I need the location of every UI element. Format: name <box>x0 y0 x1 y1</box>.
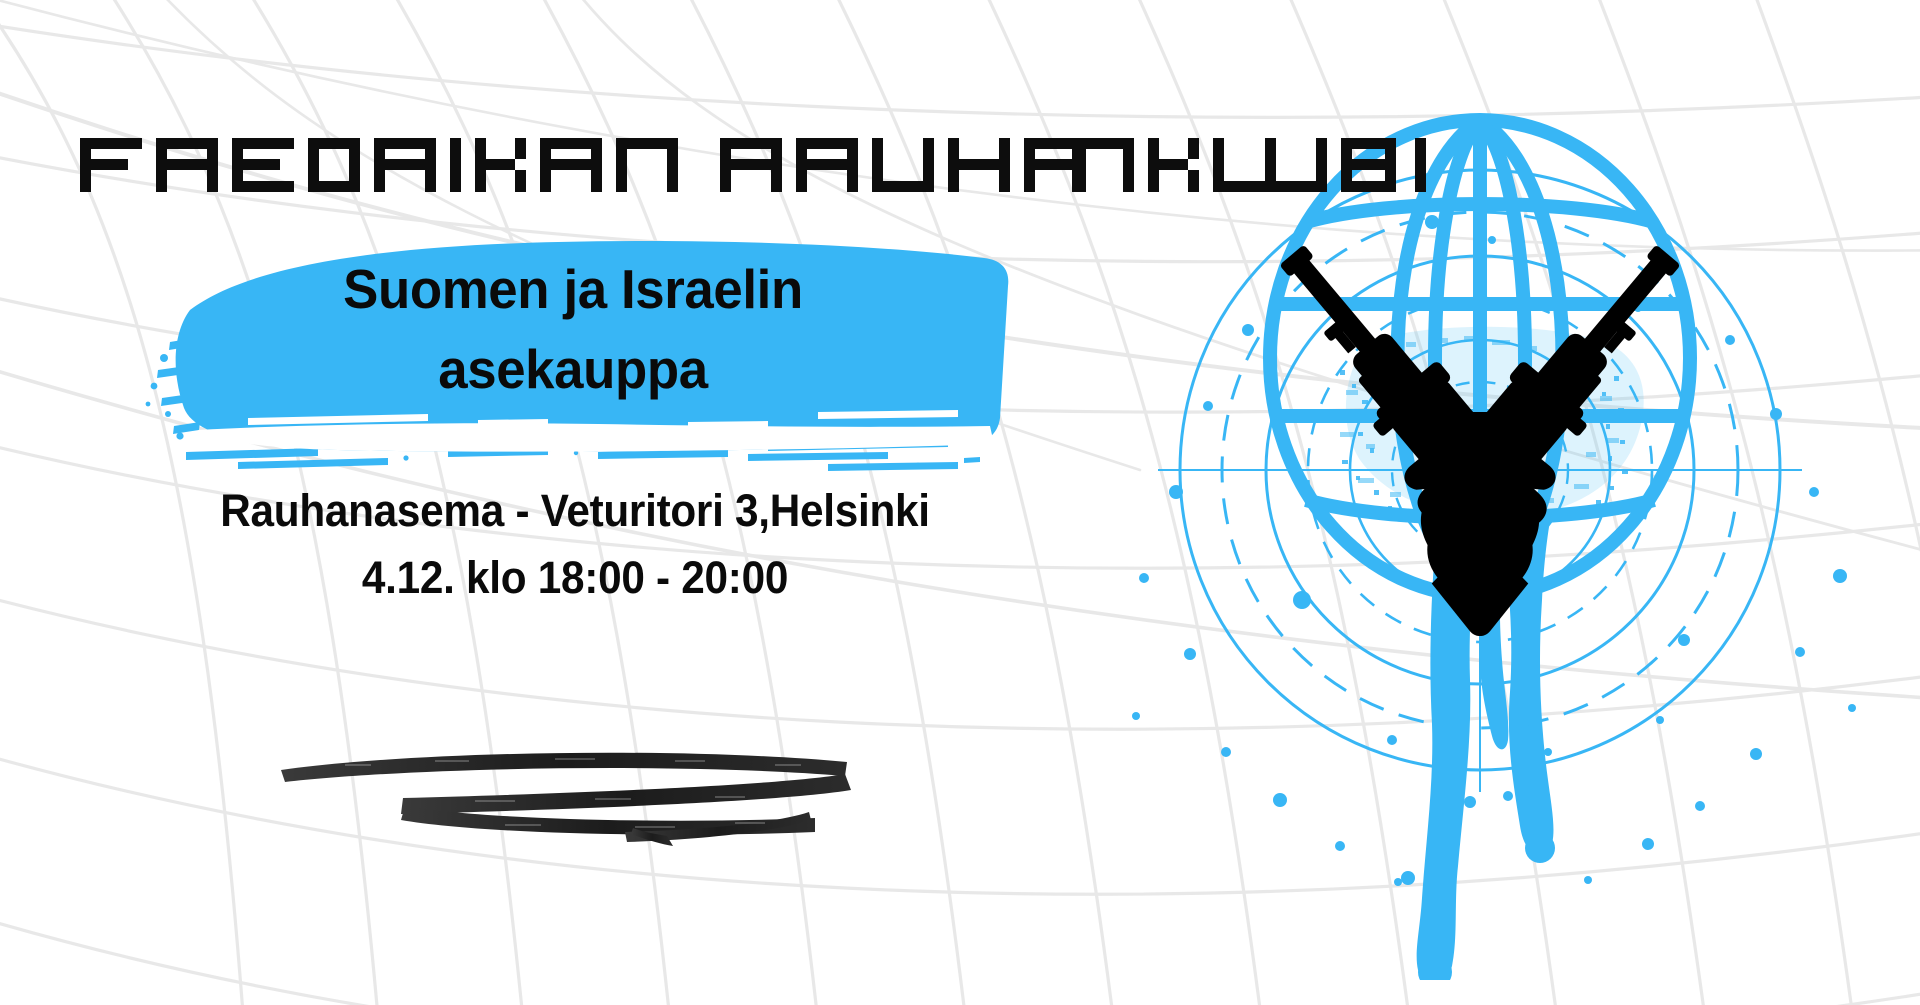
title-glyphs <box>72 120 1132 210</box>
event-details: Rauhanasema - Veturitori 3,Helsinki 4.12… <box>110 478 1041 611</box>
title-glyphs-end <box>1265 120 1455 210</box>
headline: Suomen ja Israelin asekauppa <box>146 250 1000 410</box>
datetime-line: 4.12. klo 18:00 - 20:00 <box>110 545 1041 612</box>
venue-line: Rauhanasema - Veturitori 3,Helsinki <box>110 478 1041 545</box>
headline-line-1: Suomen ja Israelin <box>146 250 1000 330</box>
marker-scribble <box>255 740 875 855</box>
headline-line-2: asekauppa <box>146 330 1000 410</box>
poster-canvas: FREDRIKAN RAUHANKLUBI <box>0 0 1920 1005</box>
